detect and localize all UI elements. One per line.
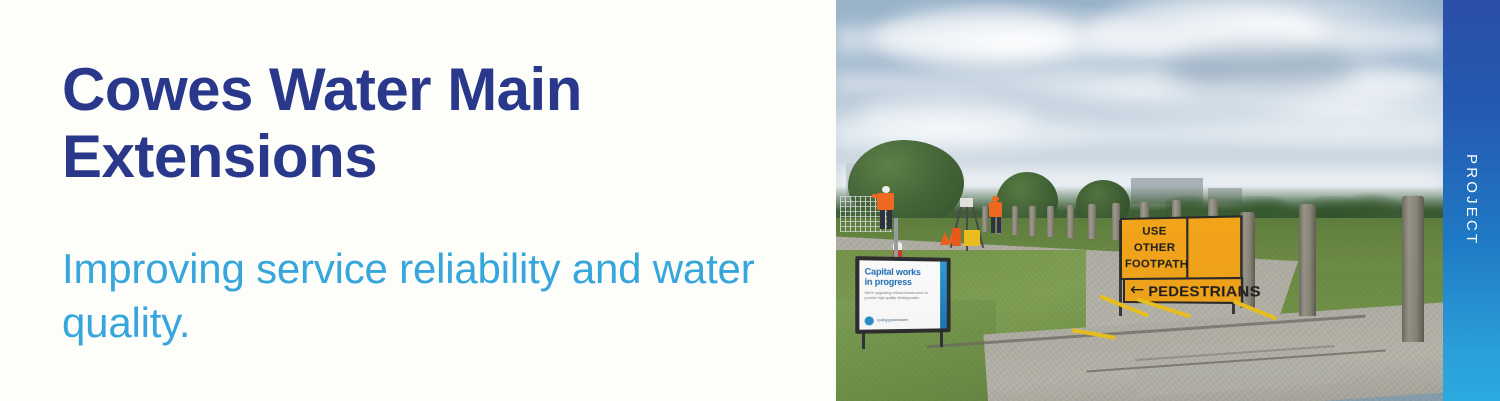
capital-works-sign-title: Capital works in progress — [865, 266, 939, 287]
hard-hat — [882, 186, 890, 193]
bollard — [1047, 206, 1054, 237]
project-side-tab: PROJECT — [1443, 0, 1500, 401]
capital-works-sign-footer: southgippslandwater — [865, 316, 944, 326]
bollard — [1029, 206, 1036, 236]
cloud-shadow — [1166, 44, 1356, 92]
headline-panel: Cowes Water Main Extensions Improving se… — [0, 0, 836, 401]
bollard — [1067, 205, 1074, 238]
tripod-head — [960, 198, 973, 207]
sign-text-block: USE OTHER FOOTPATH — [1125, 224, 1185, 274]
sign-line-2: OTHER — [1134, 242, 1175, 254]
capital-works-title-line1: Capital works — [865, 266, 921, 277]
capital-works-sign-panel: Capital works in progress We're upgradin… — [859, 260, 946, 329]
pedestrians-label: PEDESTRIANS — [1148, 282, 1261, 300]
left-arrow-icon: ← — [1130, 282, 1144, 299]
leg — [887, 210, 892, 229]
leg — [991, 217, 995, 233]
timber-post — [1299, 204, 1316, 316]
capital-works-footer-text: southgippslandwater — [877, 318, 908, 322]
sign-leg — [940, 331, 943, 347]
sign-pole — [894, 218, 898, 262]
page-subtitle: Improving service reliability and water … — [62, 190, 782, 350]
pedestrian-detour-sign: USE OTHER FOOTPATH ← PEDESTRIANS — [1117, 218, 1236, 308]
worker-figure — [986, 196, 1006, 234]
project-hero-banner: Cowes Water Main Extensions Improving se… — [0, 0, 1500, 401]
sign-board-upper: USE OTHER FOOTPATH — [1120, 215, 1243, 282]
equipment-box — [964, 230, 980, 246]
capital-works-title-line2: in progress — [865, 277, 912, 287]
capital-works-sign-body: We're upgrading critical infrastructure … — [865, 291, 931, 302]
sign-line-3: FOOTPATH — [1125, 258, 1189, 271]
arm — [872, 194, 882, 198]
sign-line-1: USE — [1142, 225, 1166, 238]
hero-photo: Capital works in progress We're upgradin… — [836, 0, 1443, 401]
leg — [880, 210, 885, 229]
safety-barrier — [952, 228, 961, 246]
project-side-tab-label: PROJECT — [1463, 154, 1480, 246]
cloud — [856, 96, 1036, 140]
hi-vis-vest — [989, 202, 1002, 217]
bollard — [1012, 206, 1018, 235]
leg — [997, 217, 1001, 233]
cloud — [876, 8, 1076, 64]
timber-post — [1402, 196, 1424, 342]
bollard — [1088, 204, 1096, 239]
capital-works-sign: Capital works in progress We're upgradin… — [855, 256, 950, 334]
water-authority-logo-icon — [865, 316, 874, 325]
page-title: Cowes Water Main Extensions — [62, 56, 682, 190]
